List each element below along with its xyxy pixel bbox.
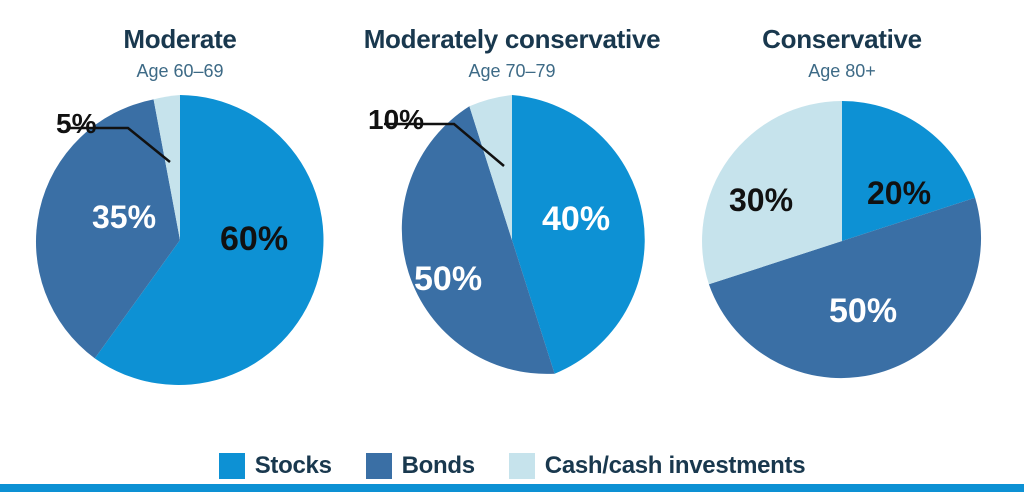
pie-chart-moderate: Moderate Age 60–69 60% 35% 5%: [10, 0, 350, 440]
legend-item-stocks: Stocks: [219, 452, 332, 480]
pie-label-cash-callout: 10%: [368, 104, 424, 136]
legend-swatch-cash: [509, 453, 535, 479]
accent-bar: [0, 484, 1024, 492]
chart-title-moderate: Moderate: [10, 24, 350, 55]
legend-swatch-stocks: [219, 453, 245, 479]
legend-label-cash: Cash/cash investments: [545, 452, 805, 480]
pie-graphic-conservative: 20% 50% 30%: [697, 96, 987, 386]
legend-label-bonds: Bonds: [402, 452, 475, 480]
pie-chart-conservative: Conservative Age 80+ 20% 50% 30%: [672, 0, 1012, 440]
chart-subtitle-moderately-conservative: Age 70–79: [342, 61, 682, 82]
pie-label-bonds: 35%: [92, 199, 156, 235]
legend-swatch-bonds: [366, 453, 392, 479]
pie-label-bonds: 50%: [414, 260, 482, 298]
chart-subtitle-moderate: Age 60–69: [10, 61, 350, 82]
pie-chart-moderately-conservative: Moderately conservative Age 70–79 40% 50…: [342, 0, 682, 440]
chart-title-conservative: Conservative: [672, 24, 1012, 55]
pie-svg-conservative: 20% 50% 30%: [697, 96, 987, 386]
chart-subtitle-conservative: Age 80+: [672, 61, 1012, 82]
legend-item-bonds: Bonds: [366, 452, 475, 480]
pie-label-cash: 30%: [729, 182, 793, 218]
chart-title-moderately-conservative: Moderately conservative: [342, 24, 682, 55]
pie-label-cash-callout: 5%: [56, 108, 96, 140]
pie-label-stocks: 60%: [220, 220, 288, 258]
pie-label-stocks: 40%: [542, 200, 610, 238]
pie-label-bonds: 50%: [829, 292, 897, 330]
pie-label-stocks: 20%: [867, 175, 931, 211]
chart-page: Moderate Age 60–69 60% 35% 5% Moderately…: [0, 0, 1024, 492]
legend-item-cash: Cash/cash investments: [509, 452, 805, 480]
legend-label-stocks: Stocks: [255, 452, 332, 480]
